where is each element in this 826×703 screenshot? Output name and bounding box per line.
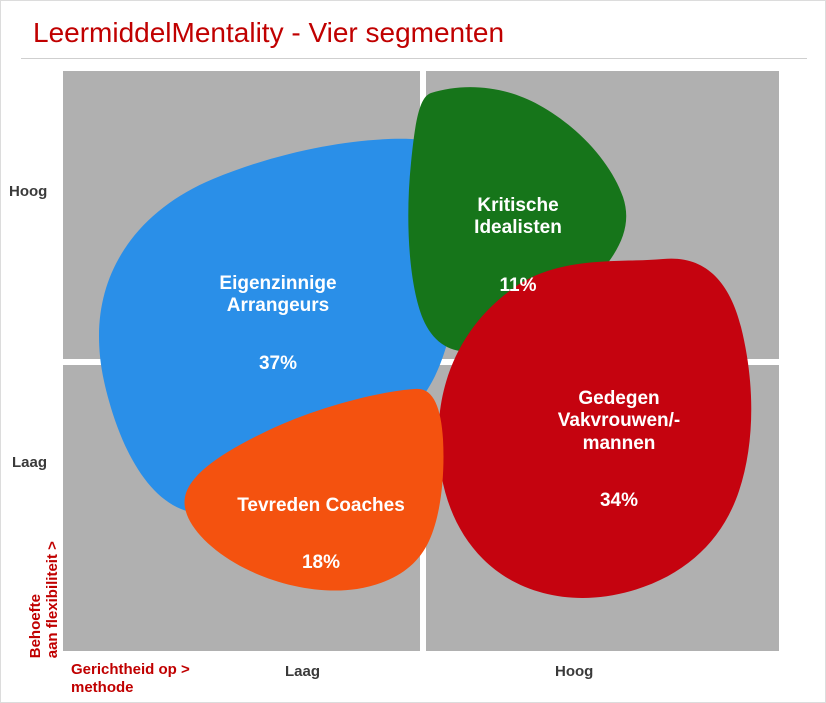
quadrant-chart: Eigenzinnige Arrangeurs 37% Kritische Id…: [63, 71, 779, 651]
y-axis-title: Behoefte aan flexibiliteit >: [27, 468, 62, 658]
y-axis-tick-hoog: Hoog: [9, 183, 47, 200]
title-block: LeermiddelMentality - Vier segmenten: [1, 1, 826, 61]
segment-shapes: [63, 71, 779, 651]
slide-page: LeermiddelMentality - Vier segmenten Eig…: [0, 0, 826, 703]
title-divider-rule: [21, 58, 807, 59]
x-axis-title: Gerichtheid op > methode: [71, 661, 281, 696]
page-title: LeermiddelMentality - Vier segmenten: [33, 17, 504, 49]
x-axis-tick-hoog: Hoog: [555, 663, 593, 680]
x-axis-tick-laag: Laag: [285, 663, 320, 680]
